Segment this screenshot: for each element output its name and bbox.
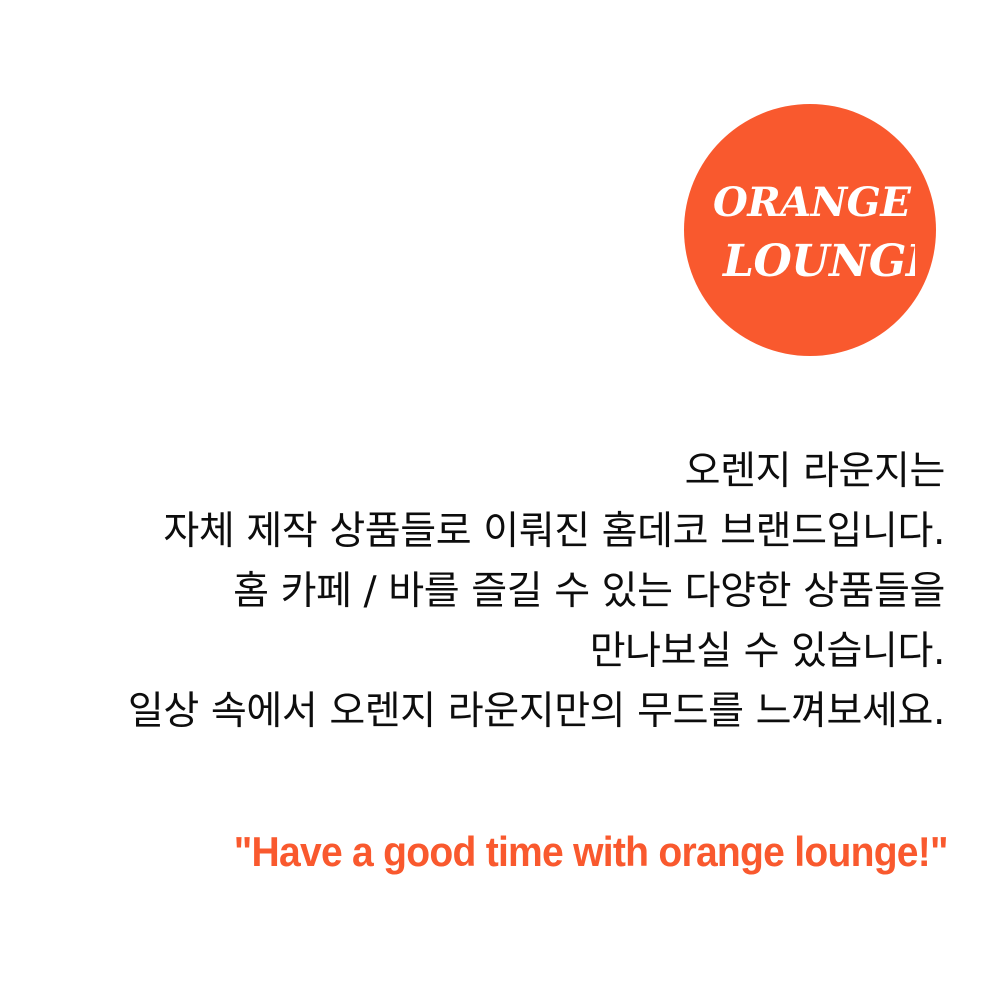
logo-line-lounge: LOUNGE xyxy=(721,236,915,287)
description-line-2: 자체 제작 상품들로 이뤄진 홈데코 브랜드입니다. xyxy=(55,502,945,562)
description-line-3: 홈 카페 / 바를 즐길 수 있는 다양한 상품들을 xyxy=(55,562,945,622)
orange-lounge-logo-badge: ORANGE LOUNGE xyxy=(684,104,936,356)
brand-description: 오렌지 라운지는 자체 제작 상품들로 이뤄진 홈데코 브랜드입니다. 홈 카페… xyxy=(55,442,945,742)
logo-wordmark: ORANGE LOUNGE xyxy=(705,168,915,293)
tagline-text: "Have a good time with orange lounge!" xyxy=(234,826,948,878)
description-line-4: 만나보실 수 있습니다. xyxy=(55,622,945,682)
description-line-1: 오렌지 라운지는 xyxy=(55,442,945,502)
tagline: "Have a good time with orange lounge!" xyxy=(55,826,948,878)
description-line-5: 일상 속에서 오렌지 라운지만의 무드를 느껴보세요. xyxy=(55,682,945,742)
logo-line-orange: ORANGE xyxy=(713,179,911,226)
brand-intro-card: ORANGE LOUNGE 오렌지 라운지는 자체 제작 상품들로 이뤄진 홈데… xyxy=(0,0,1000,1000)
